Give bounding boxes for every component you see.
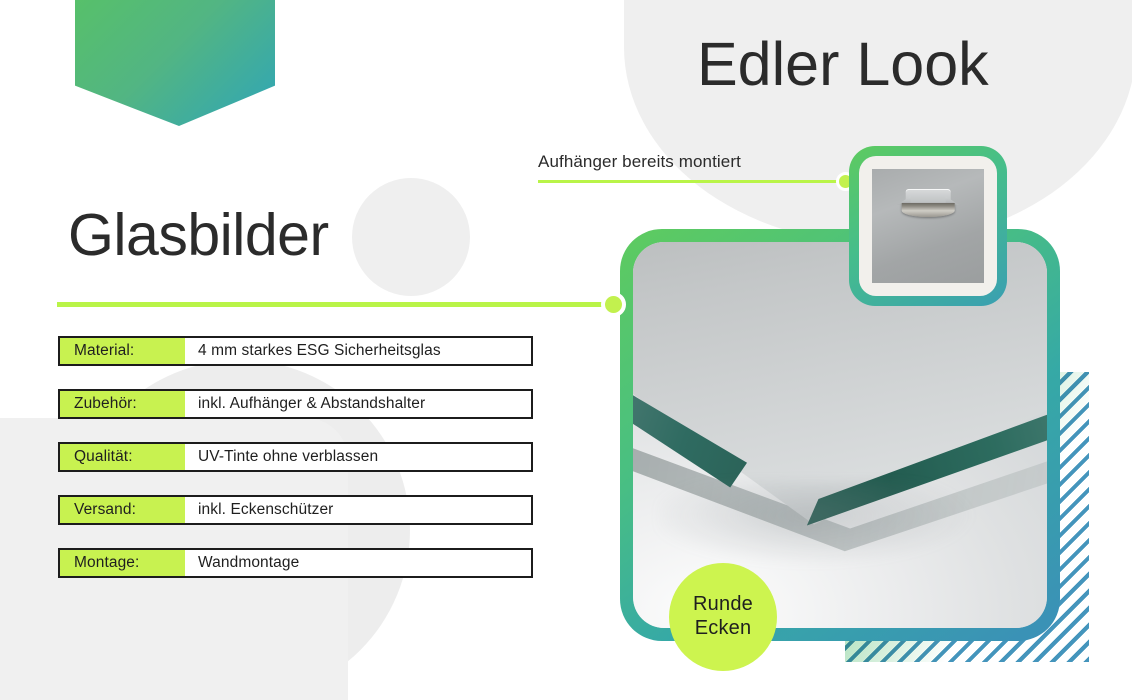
connector-line-left [57, 302, 609, 307]
badge-line-1: Runde [693, 593, 753, 617]
connector-dot-left [601, 292, 626, 317]
hanger-inset-frame [849, 146, 1007, 306]
spec-value: Wandmontage [185, 550, 531, 576]
spec-key: Montage: [60, 550, 185, 576]
spec-key: Zubehör: [60, 391, 185, 417]
page-title: Glasbilder [68, 206, 329, 265]
table-row: Qualität: UV-Tinte ohne verblassen [58, 442, 533, 472]
table-row: Material: 4 mm starkes ESG Sicherheitsgl… [58, 336, 533, 366]
table-row: Versand: inkl. Eckenschützer [58, 495, 533, 525]
brand-shield-logo [75, 0, 275, 126]
hanger-photo [872, 169, 984, 282]
hanger-inset-mat [859, 156, 997, 296]
table-row: Zubehör: inkl. Aufhänger & Abstandshalte… [58, 389, 533, 419]
hanger-cap [905, 189, 950, 204]
spec-key: Versand: [60, 497, 185, 523]
spec-value: inkl. Eckenschützer [185, 497, 531, 523]
hanger-bracket-icon [897, 189, 960, 218]
badge-line-2: Ecken [695, 617, 752, 641]
hanger-slot [902, 203, 955, 217]
infographic-canvas: Edler Look Glasbilder Aufhänger bereits … [0, 0, 1132, 700]
spec-list: Material: 4 mm starkes ESG Sicherheitsgl… [58, 336, 533, 601]
callout-label-hanger: Aufhänger bereits montiert [538, 152, 741, 172]
spec-key: Material: [60, 338, 185, 364]
badge-runde-ecken: Runde Ecken [669, 563, 777, 671]
background-circle-middle [352, 178, 470, 296]
spec-key: Qualität: [60, 444, 185, 470]
spec-value: 4 mm starkes ESG Sicherheitsglas [185, 338, 531, 364]
page-title-right: Edler Look [697, 34, 989, 95]
spec-value: UV-Tinte ohne verblassen [185, 444, 531, 470]
table-row: Montage: Wandmontage [58, 548, 533, 578]
spec-value: inkl. Aufhänger & Abstandshalter [185, 391, 531, 417]
connector-line-top [538, 180, 848, 183]
